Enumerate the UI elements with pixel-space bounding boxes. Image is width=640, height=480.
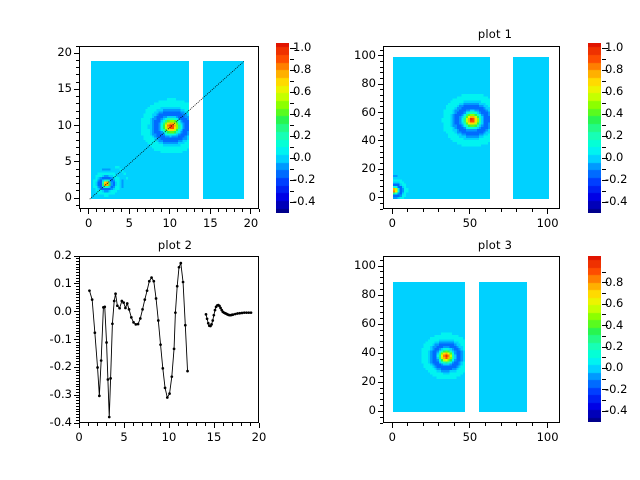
ytick-minor bbox=[380, 277, 383, 278]
ytick-minor bbox=[380, 335, 383, 336]
heatmap-canvas bbox=[393, 282, 465, 412]
xtick-minor bbox=[407, 423, 408, 426]
ytick-minor bbox=[380, 417, 383, 418]
right-image-block-1 bbox=[479, 282, 527, 412]
xtick-minor bbox=[485, 423, 486, 426]
ytick-minor bbox=[380, 376, 383, 377]
ytick-minor bbox=[380, 399, 383, 400]
panel-title-plot3: plot 3 bbox=[380, 238, 610, 252]
colorbar-tick-minor bbox=[602, 336, 606, 337]
ytick-major bbox=[378, 324, 383, 325]
xtick-major bbox=[469, 423, 470, 428]
colorbar-tick-minor bbox=[602, 314, 606, 315]
colorbar-ticklabel: 0.6 bbox=[605, 296, 640, 310]
ytick-major bbox=[378, 353, 383, 354]
ytick-minor bbox=[380, 260, 383, 261]
ytick-major bbox=[378, 266, 383, 267]
ytick-minor bbox=[380, 388, 383, 389]
ytick-minor bbox=[380, 289, 383, 290]
ytick-minor bbox=[380, 301, 383, 302]
colorbar-ticklabel: 0.4 bbox=[605, 318, 640, 332]
ytick-minor bbox=[380, 423, 383, 424]
xticklabel: 50 bbox=[450, 430, 490, 444]
colorbar-ticklabel: 0.2 bbox=[605, 339, 640, 353]
colorbar-gradient bbox=[588, 256, 601, 422]
ytick-minor bbox=[380, 405, 383, 406]
figure-canvas: 0510152005101520-0.4-0.20.00.20.40.60.81… bbox=[0, 0, 640, 480]
colorbar-tick-minor bbox=[602, 293, 606, 294]
xtick-major bbox=[547, 423, 548, 428]
yticklabel: 80 bbox=[330, 287, 376, 301]
colorbar-ticklabel: -0.2 bbox=[605, 382, 640, 396]
yticklabel: 0 bbox=[330, 403, 376, 417]
ytick-minor bbox=[380, 330, 383, 331]
xticklabel: 0 bbox=[372, 430, 412, 444]
ytick-minor bbox=[380, 318, 383, 319]
ytick-minor bbox=[380, 271, 383, 272]
ytick-minor bbox=[380, 359, 383, 360]
ytick-minor bbox=[380, 364, 383, 365]
ytick-minor bbox=[380, 341, 383, 342]
colorbar-ticklabel: -0.4 bbox=[605, 403, 640, 417]
xtick-major bbox=[392, 423, 393, 428]
left-image-block-0 bbox=[393, 282, 465, 412]
xtick-minor bbox=[501, 423, 502, 426]
colorbar-tick-minor bbox=[602, 400, 606, 401]
ytick-minor bbox=[380, 312, 383, 313]
xtick-minor bbox=[438, 423, 439, 426]
heatmap-canvas bbox=[479, 282, 527, 412]
colorbar-tick-minor bbox=[602, 357, 606, 358]
ytick-major bbox=[378, 295, 383, 296]
ytick-minor bbox=[380, 347, 383, 348]
ytick-minor bbox=[380, 306, 383, 307]
xtick-minor bbox=[532, 423, 533, 426]
xticklabel: 100 bbox=[528, 430, 568, 444]
subplot-plot3: plot 3050100020406080100-0.4-0.20.00.20.… bbox=[0, 0, 640, 480]
colorbar-tick-minor bbox=[602, 272, 606, 273]
colorbar-ticklabel: 0.0 bbox=[605, 360, 640, 374]
ytick-minor bbox=[380, 283, 383, 284]
yticklabel: 100 bbox=[330, 258, 376, 272]
yticklabel: 60 bbox=[330, 316, 376, 330]
colorbar-plot3 bbox=[588, 256, 601, 422]
colorbar-ticklabel: 0.8 bbox=[605, 275, 640, 289]
ytick-minor bbox=[380, 370, 383, 371]
yticklabel: 20 bbox=[330, 374, 376, 388]
ytick-minor bbox=[380, 393, 383, 394]
axes-frame-plot3 bbox=[383, 256, 560, 423]
xtick-minor bbox=[423, 423, 424, 426]
ytick-major bbox=[378, 411, 383, 412]
yticklabel: 40 bbox=[330, 345, 376, 359]
colorbar-tick-minor bbox=[602, 379, 606, 380]
xtick-minor bbox=[516, 423, 517, 426]
xtick-minor bbox=[454, 423, 455, 426]
ytick-major bbox=[378, 382, 383, 383]
